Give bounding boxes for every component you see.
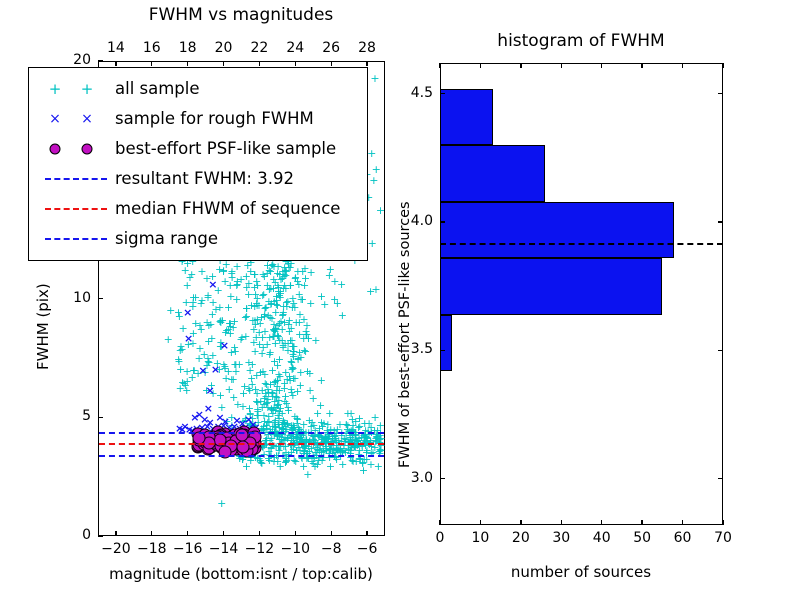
scatter-xtick-bottom — [331, 531, 332, 536]
histogram-ytick-label: 4.0 — [411, 213, 433, 229]
histogram-xtick — [722, 520, 723, 525]
histogram-title: histogram of FWHM — [497, 31, 664, 51]
histogram-ytick — [440, 350, 445, 351]
scatter-xtick-label-top: 20 — [215, 40, 233, 56]
legend-marker-dashdot-line-icon — [37, 224, 115, 254]
scatter-xtick-bottom — [187, 531, 188, 536]
scatter-xtick-label-bottom: −20 — [101, 541, 131, 557]
scatter-xtick-label-top: 22 — [251, 40, 269, 56]
legend-marker-circle-icon — [37, 134, 115, 164]
histogram-xtick-label: 50 — [633, 530, 651, 546]
histogram-xtick-label: 30 — [552, 530, 570, 546]
scatter-ytick-label: 5 — [82, 408, 91, 424]
scatter-xtick-top — [331, 61, 332, 66]
legend-item-label: best-effort PSF-like sample — [115, 134, 336, 164]
scatter-ylabel: FWHM (pix) — [34, 283, 52, 370]
histogram-ytick-right — [718, 350, 723, 351]
histogram-xtick-top — [641, 63, 642, 68]
histogram-xtick — [641, 520, 642, 525]
scatter-xtick-top — [223, 61, 224, 66]
histogram-xtick — [439, 520, 440, 525]
scatter-xtick-top — [295, 61, 296, 66]
scatter-plot-title: FWHM vs magnitudes — [149, 5, 334, 25]
scatter-ylabel-right: FWHM of best-effort PSF-like sources — [397, 201, 413, 468]
scatter-xtick-label-top: 18 — [179, 40, 197, 56]
scatter-ytick — [98, 535, 103, 536]
legend-marker-plus-icon: ++ — [37, 74, 115, 104]
scatter-ytick-label: 0 — [82, 527, 91, 543]
scatter-ytick-label: 10 — [73, 290, 91, 306]
scatter-xtick-bottom — [366, 531, 367, 536]
scatter-xtick-label-bottom: −12 — [245, 541, 275, 557]
histogram-xtick-label: 40 — [593, 530, 611, 546]
legend-item[interactable]: sigma range — [37, 224, 359, 254]
legend-item-label: resultant FWHM: 3.92 — [115, 164, 294, 194]
scatter-xtick-top — [259, 61, 260, 66]
scatter-ytick — [98, 60, 103, 61]
histogram-bar — [440, 258, 662, 314]
scatter-xtick-label-top: 24 — [286, 40, 304, 56]
sigma-lower-line — [99, 455, 384, 457]
legend-box: ++all sample××sample for rough FWHMbest-… — [28, 67, 368, 261]
histogram-xtick-top — [601, 63, 602, 68]
circle-icon — [50, 144, 61, 155]
histogram-xtick-label: 0 — [436, 530, 445, 546]
legend-item-label: sigma range — [115, 224, 218, 254]
scatter-xtick-label-top: 16 — [143, 40, 161, 56]
histogram-bar — [440, 315, 452, 371]
histogram-xtick-top — [520, 63, 521, 68]
median-fwhm-line — [99, 443, 384, 445]
histogram-ytick-right — [718, 478, 723, 479]
scatter-xtick-label-bottom: −16 — [173, 541, 203, 557]
histogram-xtick-top — [439, 63, 440, 68]
legend-item[interactable]: ++all sample — [37, 74, 359, 104]
legend-item[interactable]: best-effort PSF-like sample — [37, 134, 359, 164]
scatter-xtick-label-bottom: −18 — [137, 541, 167, 557]
histogram-xtick-top — [722, 63, 723, 68]
histogram-xtick-top — [682, 63, 683, 68]
scatter-xtick-label-top: 28 — [358, 40, 376, 56]
legend-item-label: sample for rough FWHM — [115, 104, 314, 134]
histogram-ytick-label: 3.5 — [411, 341, 433, 357]
histogram-xtick-top — [480, 63, 481, 68]
legend-marker-dashed-line-icon — [37, 194, 115, 224]
legend-marker-cross-icon: ×× — [37, 104, 115, 134]
histogram-xlabel: number of sources — [511, 563, 651, 581]
scatter-xtick-label-bottom: −6 — [357, 541, 378, 557]
scatter-xtick-bottom — [223, 531, 224, 536]
histogram-xtick-label: 60 — [674, 530, 692, 546]
scatter-ytick — [98, 298, 103, 299]
histogram-ytick-right — [718, 221, 723, 222]
legend-item-label: all sample — [115, 74, 200, 104]
scatter-xtick-label-bottom: −14 — [209, 541, 239, 557]
dashed-line-icon — [45, 178, 107, 180]
histogram-ytick — [440, 93, 445, 94]
histogram-xtick — [601, 520, 602, 525]
legend-marker-dashed-line-icon — [37, 164, 115, 194]
histogram-bars-layer — [440, 63, 723, 525]
histogram-xtick — [561, 520, 562, 525]
scatter-xtick-top — [366, 61, 367, 66]
histogram-ytick-label: 4.5 — [411, 85, 433, 101]
figure-canvas: FWHM vs magnitudes magnitude (bottom:isn… — [0, 0, 800, 600]
legend-item[interactable]: resultant FWHM: 3.92 — [37, 164, 359, 194]
histogram-xtick-top — [561, 63, 562, 68]
histogram-xtick-label: 20 — [512, 530, 530, 546]
scatter-xtick-bottom — [259, 531, 260, 536]
scatter-xtick-label-bottom: −10 — [281, 541, 311, 557]
legend-item[interactable]: median FHWM of sequence — [37, 194, 359, 224]
scatter-xtick-label-top: 14 — [107, 40, 125, 56]
dashed-line-icon — [45, 208, 107, 210]
circle-icon — [82, 144, 93, 155]
histogram-xtick — [480, 520, 481, 525]
scatter-ytick-label: 20 — [73, 52, 91, 68]
sigma-upper-line — [99, 432, 384, 434]
histogram-median-line — [440, 243, 723, 245]
scatter-xtick-top — [151, 61, 152, 66]
legend-item-label: median FHWM of sequence — [115, 194, 340, 224]
histogram-xtick — [520, 520, 521, 525]
scatter-xtick-label-bottom: −8 — [321, 541, 342, 557]
scatter-xtick-label-top: 26 — [322, 40, 340, 56]
histogram-bar — [440, 145, 545, 201]
histogram-xtick-label: 10 — [472, 530, 490, 546]
scatter-xlabel-bottom: magnitude (bottom:isnt / top:calib) — [109, 565, 373, 583]
histogram-bar — [440, 202, 674, 258]
scatter-xtick-top — [115, 61, 116, 66]
scatter-xtick-bottom — [115, 531, 116, 536]
histogram-bar — [440, 89, 493, 145]
scatter-ytick — [98, 417, 103, 418]
histogram-ytick-label: 3.0 — [411, 470, 433, 486]
scatter-xtick-bottom — [151, 531, 152, 536]
histogram-ytick-right — [718, 93, 723, 94]
histogram-ytick — [440, 221, 445, 222]
scatter-xtick-bottom — [295, 531, 296, 536]
dashdot-line-icon — [45, 238, 107, 240]
histogram-xtick-label: 70 — [714, 530, 732, 546]
legend-item[interactable]: ××sample for rough FWHM — [37, 104, 359, 134]
histogram-ytick — [440, 478, 445, 479]
histogram-xtick — [682, 520, 683, 525]
scatter-xtick-top — [187, 61, 188, 66]
